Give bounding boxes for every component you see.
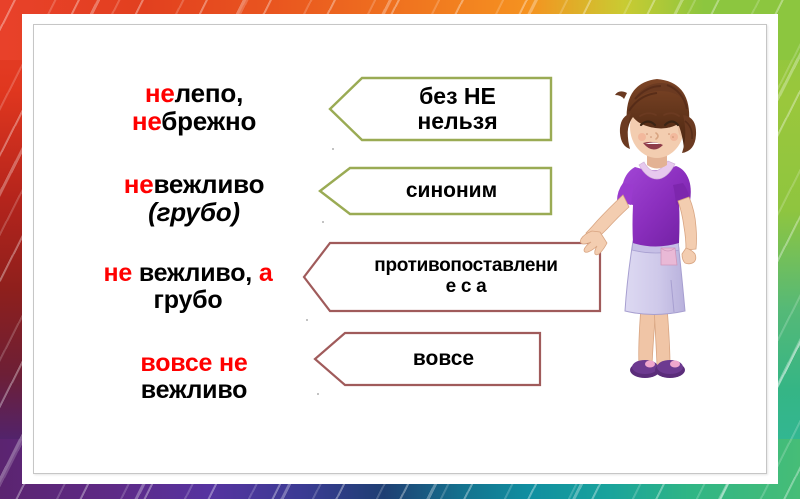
term-nevezhlivo-grubo: невежливо(грубо) [64, 171, 324, 226]
term-text-run: вежливо [141, 376, 248, 404]
term-text-run: вовсе не [140, 349, 247, 377]
callout-protivopostavlenie-s-a[interactable]: противопоставление с а [302, 241, 602, 313]
callout-sinonim[interactable]: синоним [318, 166, 553, 216]
illustration-cartoon-girl [579, 55, 729, 395]
term-text-run: лепо, [175, 78, 243, 108]
cartoon-girl-icon [579, 55, 729, 395]
artifact-dot [306, 319, 308, 321]
term-line: не вежливо, а [50, 260, 326, 287]
artifact-dot [332, 148, 334, 150]
callout-label: синоним [374, 179, 497, 202]
slide-canvas: нелепо,небрежно невежливо(грубо) не вежл… [0, 0, 800, 499]
artifact-dot [317, 393, 319, 395]
callout-label: без НЕнельзя [383, 84, 497, 135]
term-line: вежливо [64, 377, 324, 404]
term-text-run: не [145, 78, 175, 108]
term-text-run: (грубо) [148, 197, 240, 227]
term-text-run: грубо [154, 286, 223, 314]
term-text-run: вежливо [153, 169, 264, 199]
term-line: грубо [50, 287, 326, 314]
term-text-run: не [132, 106, 161, 136]
term-line: нелепо, [64, 80, 324, 108]
callout-label: противопоставление с а [346, 256, 557, 298]
term-ne-vezhlivo-a-grubo: не вежливо, агрубо [50, 260, 326, 313]
term-line: вовсе не [64, 350, 324, 377]
term-nelepo-nebrezhno: нелепо,небрежно [64, 80, 324, 135]
term-text-run: не [124, 169, 154, 199]
term-vovse-ne-vezhlivo: вовсе невежливо [64, 350, 324, 403]
term-text-run: не [103, 259, 138, 287]
term-text-run: вежливо, [139, 259, 259, 287]
term-line: небрежно [64, 108, 324, 136]
term-text-run: а [259, 259, 273, 287]
callout-label: вовсе [381, 347, 474, 370]
term-line: невежливо [64, 171, 324, 199]
term-text-run: брежно [161, 106, 256, 136]
content-panel: нелепо,небрежно невежливо(грубо) не вежл… [33, 24, 767, 474]
artifact-dot [322, 221, 324, 223]
term-line: (грубо) [64, 199, 324, 227]
callout-bez-ne-nelzya[interactable]: без НЕнельзя [328, 76, 553, 142]
callout-vovse[interactable]: вовсе [313, 331, 542, 387]
